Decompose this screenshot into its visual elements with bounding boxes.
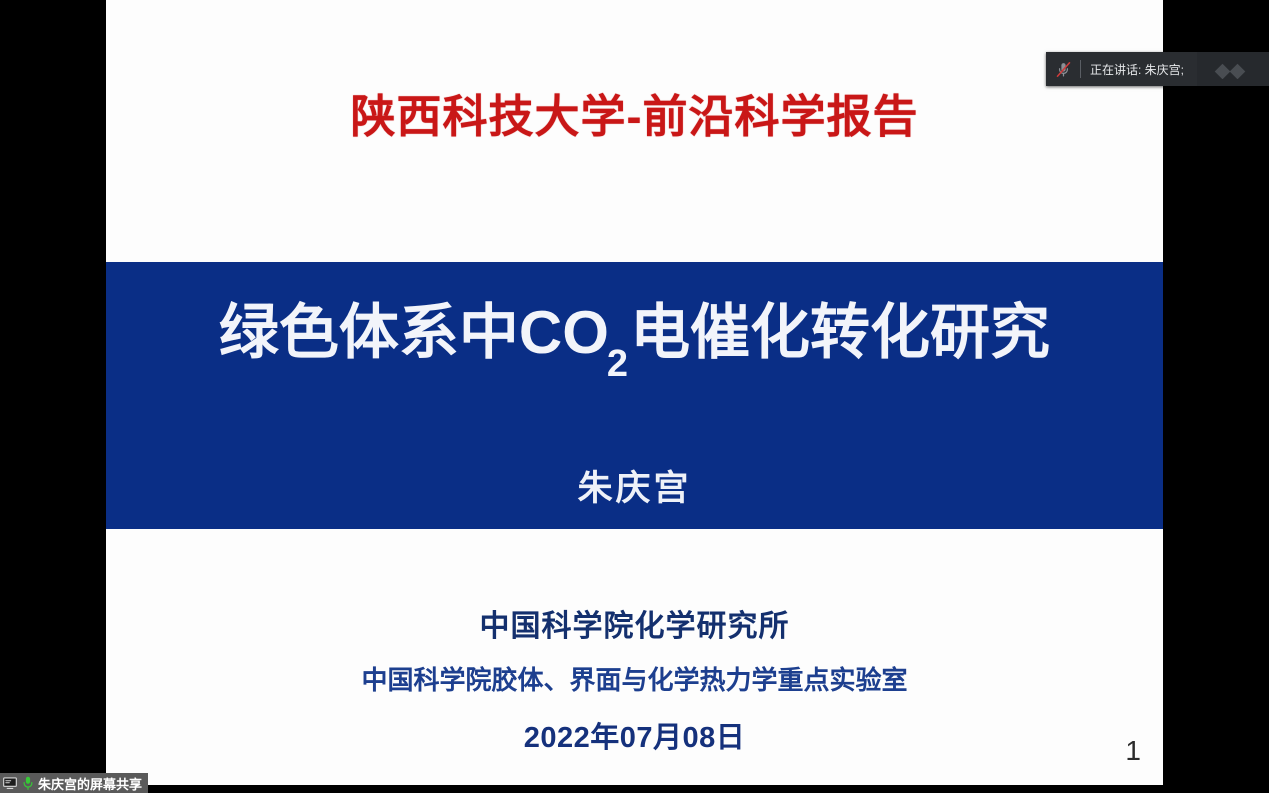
slide-main-title-suffix: 电催化转化研究: [630, 299, 1050, 366]
video-placeholder-chevron-icon[interactable]: [1197, 52, 1269, 86]
slide-main-title: 绿色体系中CO2电催化转化研究: [106, 300, 1163, 376]
slide-title-banner: 绿色体系中CO2电催化转化研究 朱庆宫: [106, 262, 1163, 529]
slide-affiliation-block: 中国科学院化学研究所 中国科学院胶体、界面与化学热力学重点实验室 2022年07…: [106, 608, 1163, 756]
active-speaker-badge[interactable]: 正在讲话: 朱庆宫;: [1046, 52, 1269, 86]
screen-share-viewport: 陕西科技大学-前沿科学报告 绿色体系中CO2电催化转化研究 朱庆宫 中国科学院化…: [0, 0, 1269, 793]
slide-date: 2022年07月08日: [106, 714, 1163, 756]
slide-page-number: 1: [1125, 735, 1141, 767]
slide-main-title-prefix: 绿色体系中CO: [219, 299, 609, 366]
active-speaker-label: 正在讲话: 朱庆宫;: [1081, 61, 1197, 78]
microphone-muted-icon: [1046, 52, 1080, 86]
slide-main-title-subscript: 2: [607, 343, 628, 385]
microphone-active-icon: [20, 776, 35, 791]
share-status-bar[interactable]: 朱庆宫的屏幕共享: [0, 773, 148, 793]
slide-speaker-name: 朱庆宫: [106, 460, 1163, 511]
affiliation-lab: 中国科学院胶体、界面与化学热力学重点实验室: [106, 664, 1163, 697]
shared-slide: 陕西科技大学-前沿科学报告 绿色体系中CO2电催化转化研究 朱庆宫 中国科学院化…: [106, 0, 1163, 785]
slide-header-title: 陕西科技大学-前沿科学报告: [106, 92, 1163, 142]
monitor-share-icon: [2, 776, 17, 791]
affiliation-institute: 中国科学院化学研究所: [106, 608, 1163, 646]
share-status-label: 朱庆宫的屏幕共享: [38, 774, 142, 793]
